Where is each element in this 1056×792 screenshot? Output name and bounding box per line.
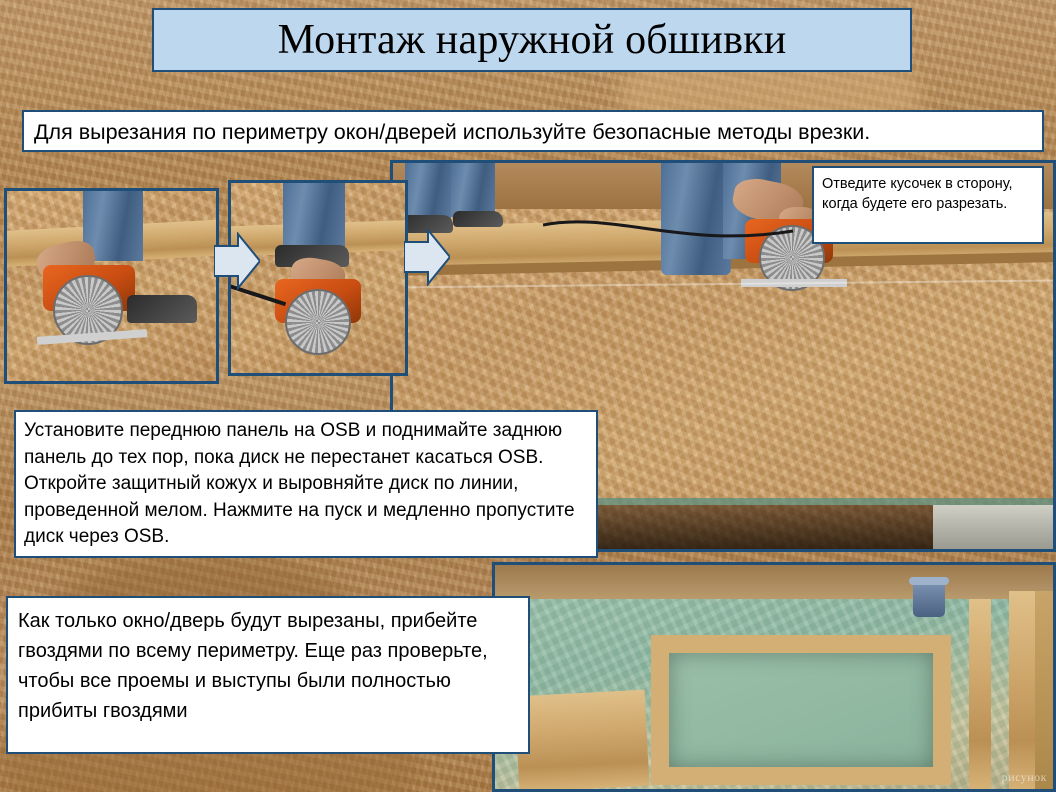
bottom-caption-text: Как только окно/дверь будут вырезаны, пр… — [8, 598, 528, 730]
photo3-light-floor — [933, 505, 1053, 549]
photo4-stud-right-1 — [1009, 591, 1035, 791]
right-note-box: Отведите кусочек в сторону, когда будете… — [812, 166, 1044, 244]
photo4-cutout-piece — [515, 690, 650, 792]
bottom-caption-box: Как только окно/дверь будут вырезаны, пр… — [6, 596, 530, 754]
flow-arrow-2 — [404, 228, 450, 286]
flow-arrow-1 — [214, 232, 260, 290]
photo3-power-cord — [543, 209, 803, 269]
photo2-worker-leg — [283, 181, 345, 251]
page-title: Монтаж наружной обшивки — [278, 16, 787, 64]
finished-opening-photo: рисунок — [492, 562, 1056, 792]
right-note-text: Отведите кусочек в сторону, когда будете… — [814, 168, 1042, 220]
photo4-opening-inner-shadow — [669, 653, 933, 767]
circular-saw-start-photo — [4, 188, 219, 384]
middle-caption-text: Установите переднюю панель на OSB и подн… — [16, 412, 596, 555]
top-caption-box: Для вырезания по периметру окон/дверей и… — [22, 110, 1044, 152]
slide-title-box: Монтаж наружной обшивки — [152, 8, 912, 72]
photo2-circular-saw-blade — [285, 289, 351, 355]
photo4-upper-dirt-strip — [495, 565, 1053, 599]
middle-caption-box: Установите переднюю панель на OSB и подн… — [14, 410, 598, 558]
top-caption-text: Для вырезания по периметру окон/дверей и… — [24, 112, 1042, 151]
photo4-plate-right — [1035, 591, 1053, 791]
photo3-worker-legs-left — [405, 163, 451, 221]
watermark-text: рисунок — [1002, 770, 1047, 785]
photo4-bucket — [913, 581, 945, 617]
photo3-worker-legs-left2 — [451, 163, 495, 217]
slide-canvas: рисунок Монтаж наружной обшивки Для выре… — [0, 0, 1056, 792]
photo3-shoe-left2 — [453, 211, 503, 227]
photo4-bucket-rim — [909, 577, 949, 585]
photo1-shoe — [127, 295, 197, 323]
photo4-stud-right-2 — [969, 599, 991, 789]
